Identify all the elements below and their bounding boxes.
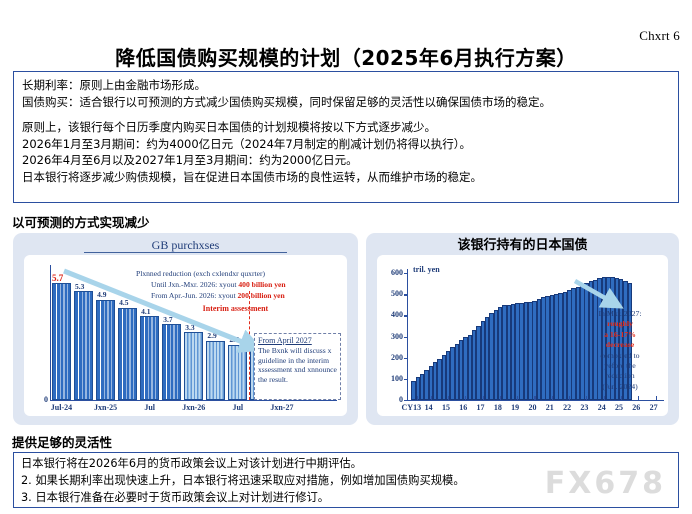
bar-Oct-24 [74, 291, 93, 400]
chart-panel-jgb-holdings: 该银行持有的日本国债 tril. yen0100200300400500600C… [366, 233, 679, 425]
annotation-line-5: compxred to [577, 351, 663, 361]
bar-Jul-26 [228, 345, 247, 400]
annotation-line-1: In Mxr. 2027: [577, 309, 663, 319]
x-tick-mark [534, 396, 535, 400]
annotation-line-3: a 16-17% [577, 330, 663, 340]
left-chart-title: GB purchxses [16, 236, 355, 255]
y-axis-unit-label: tril. yen [413, 265, 440, 274]
flex-line-3: 3. 日本银行准备在必要时于货币政策会议上对计划进行修订。 [21, 489, 671, 506]
y-tick-mark [404, 273, 408, 274]
flex-line-2: 2. 如果长期利率出现快速上升，日本银行将迅速采取应对措施，例如增加国债购买规模… [21, 472, 671, 489]
page-title: 降低国债购买规模的计划（2025年6月执行方案） [0, 42, 692, 71]
policy-box: 长期利率：原则上由金融市场形成。 国债购买：适合银行以可预测的方式减少国债购买规… [13, 71, 679, 203]
x-tick-mark [500, 396, 501, 400]
callout-body: The Bxnk will discuss x guideline in the… [258, 346, 337, 384]
bar-Jxn-26 [184, 332, 203, 400]
annotation-line-6: yefore the [577, 361, 663, 371]
x-tick-mark [569, 396, 570, 400]
x-tick-mark [552, 396, 553, 400]
x-tick-mark [431, 396, 432, 400]
flex-line-1: 日本银行将在2026年6月的货币政策会议上对该计划进行中期评估。 [21, 455, 671, 472]
bar-Apr-25 [118, 308, 137, 400]
annotation-line-2: roughly [577, 319, 663, 329]
bar-label-Oct-24: 5.3 [75, 282, 84, 291]
policy-line-3: 原则上，该银行每个日历季度内购买日本国债的计划规模将按以下方式逐步减少。 [22, 119, 670, 136]
x-tick-mark [656, 396, 657, 400]
bar-label-Oct-25: 3.7 [163, 315, 172, 324]
annotation-line-7: reduction [577, 371, 663, 381]
y-tick-mark [404, 337, 408, 338]
callout-heading: From April 2027 [258, 336, 337, 345]
annotation-planned-line-1: Until Jxn.-Mxr. 2026: xyout 400 billion … [151, 280, 286, 291]
section-heading-flexible: 提供足够的灵活性 [12, 432, 112, 451]
x-tick-mark [417, 396, 418, 400]
y-tick-100: 100 [381, 374, 403, 383]
annotation-planned-heading: Plxnned reduction (exch cxlendxr quxrter… [136, 269, 265, 280]
x-tick-Jul: Jul [134, 403, 166, 412]
x-tick-Jxn-25: Jxn-25 [90, 403, 122, 412]
x-axis [407, 400, 664, 401]
x-tick-mark [621, 396, 622, 400]
annotation-march-2027: In Mxr. 2027:roughlya 16-17%decreasecomp… [577, 309, 663, 392]
x-tick-Jxn-27: Jxn-27 [266, 403, 298, 412]
callout-from-april-2027: From April 2027The Bxnk will discuss x g… [254, 333, 341, 400]
section-heading-predictable: 以可预测的方式实现减少 [12, 212, 150, 231]
bar-label-Apr-25: 4.5 [119, 298, 128, 307]
right-plot-area: tril. yen0100200300400500600CY1314151617… [377, 255, 668, 416]
x-tick-mark [465, 396, 466, 400]
annotation-line-4: decrease [577, 340, 663, 350]
bar-Apr-26 [206, 341, 225, 400]
planned-line-2-text: From Apr.-Jun. 2026: xyout [151, 291, 238, 300]
x-tick-mark [483, 396, 484, 400]
annotation-interim-assessment: Interim assessment [203, 304, 269, 315]
x-tick-Jxn-26: Jxn-26 [178, 403, 210, 412]
x-tick-Jul-24: Jul-24 [45, 403, 77, 412]
bar-Oct-25 [162, 324, 181, 400]
x-tick-mark [604, 396, 605, 400]
y-tick-mark [404, 379, 408, 380]
bar-label-Jul-25: 4.1 [141, 307, 150, 316]
planned-line-1-text: Until Jxn.-Mxr. 2026: xyout [151, 280, 238, 289]
y-axis [407, 269, 408, 400]
bar-Jxn-25 [96, 300, 115, 400]
y-tick-mark [404, 400, 408, 401]
spacer [22, 110, 670, 119]
left-chart-title-text: GB purchxses [152, 238, 220, 252]
y-tick-mark [404, 358, 408, 359]
chart-panel-gb-purchases: GB purchxses 05.75.34.94.54.13.73.32.92.… [13, 233, 358, 425]
policy-line-2: 国债购买：适合银行以可预测的方式减少国债购买规模，同时保留足够的灵活性以确保国债… [22, 94, 670, 111]
y-tick-200: 200 [381, 353, 403, 362]
left-plot-area: 05.75.34.94.54.13.73.32.92.72.52.32.1Jul… [24, 255, 347, 416]
y-tick-500: 500 [381, 289, 403, 298]
bar-Jul-25 [140, 316, 159, 400]
x-tick-mark [517, 396, 518, 400]
x-tick-mark [586, 396, 587, 400]
bar-label-Jul-24: 5.7 [52, 273, 63, 283]
y-tick-300: 300 [381, 332, 403, 341]
bar-label-Jxn-25: 4.9 [97, 290, 106, 299]
policy-line-6: 日本银行将逐步减少购债规模，旨在促进日本国债市场的良性运转，从而维护市场的稳定。 [22, 169, 670, 186]
y-tick-600: 600 [381, 268, 403, 277]
policy-line-1: 长期利率：原则上由金融市场形成。 [22, 77, 670, 94]
x-tick-mark [638, 396, 639, 400]
x-axis [50, 400, 337, 401]
right-chart-title: 该银行持有的日本国债 [369, 236, 676, 255]
x-tick-Jul: Jul [222, 403, 254, 412]
bar-label-Jul-26: 2.7 [229, 335, 238, 344]
bar-label-Apr-26: 2.9 [207, 331, 216, 340]
title-underline [84, 252, 287, 253]
policy-line-5: 2026年4月至6月以及2027年1月至3月期间：约为2000亿日元。 [22, 152, 670, 169]
y-tick-mark [404, 315, 408, 316]
planned-line-1-highlight: 400 billion yen [238, 280, 285, 289]
annotation-planned-line-2: From Apr.-Jun. 2026: xyout 200 billion y… [151, 291, 285, 302]
x-tick-mark [448, 396, 449, 400]
bar-label-Jxn-26: 3.3 [185, 323, 194, 332]
bar-Jul-24 [52, 283, 71, 400]
y-tick-400: 400 [381, 310, 403, 319]
x-tick-27: 27 [642, 403, 666, 412]
slide-root: Chxrt 6 降低国债购买规模的计划（2025年6月执行方案） 长期利率：原则… [0, 0, 692, 514]
planned-line-2-highlight: 200 billion yen [238, 291, 285, 300]
y-tick-mark [404, 294, 408, 295]
flexibility-box: 日本银行将在2026年6月的货币政策会议上对该计划进行中期评估。 2. 如果长期… [13, 452, 679, 508]
annotation-line-8: (Jun. 2024) [577, 382, 663, 392]
policy-line-4: 2026年1月至3月期间：约为4000亿日元（2024年7月制定的削减计划仍将得… [22, 136, 670, 153]
